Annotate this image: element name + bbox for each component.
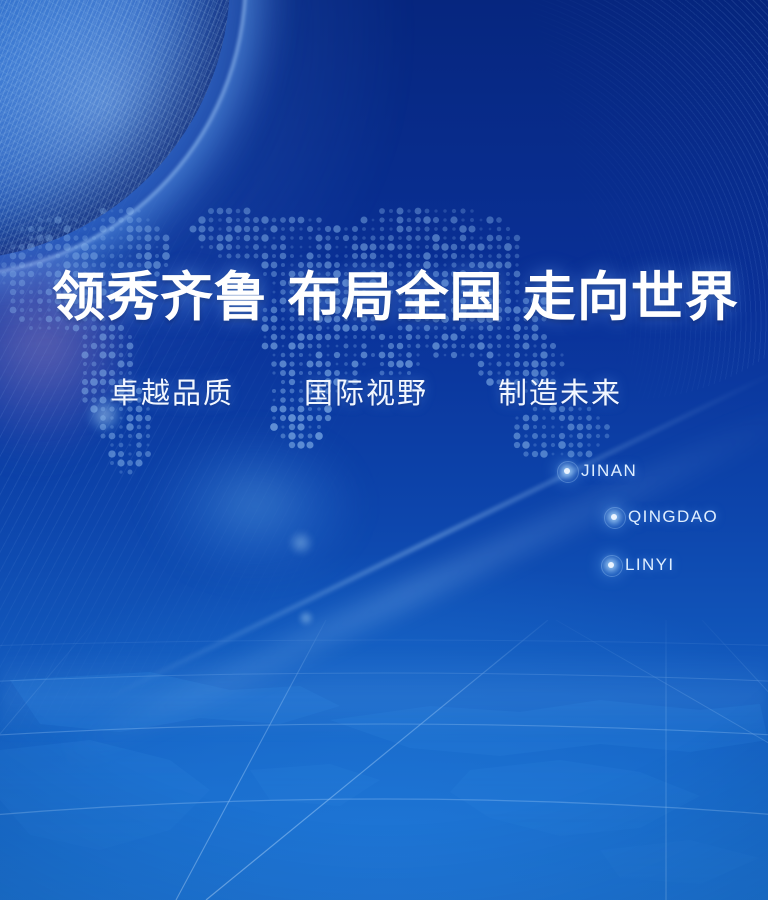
city-marker-dot-icon [564,468,570,474]
banner-subheadline: 卓越品质 国际视野 制造未来 [110,370,730,412]
banner-content: 领秀齐鲁 布局全国 走向世界 卓越品质 国际视野 制造未来 JINAN QING… [0,0,768,900]
city-marker-jinan[interactable]: JINAN [564,461,637,481]
subhead-item-2: 国际视野 [304,370,428,412]
city-label-jinan: JINAN [581,461,637,481]
city-label-qingdao: QINGDAO [628,507,718,527]
city-label-linyi: LINYI [625,555,675,575]
city-marker-linyi[interactable]: LINYI [608,555,675,575]
banner-headline: 领秀齐鲁 布局全国 走向世界 [52,268,732,327]
hero-banner: 领秀齐鲁 布局全国 走向世界 卓越品质 国际视野 制造未来 JINAN QING… [0,0,768,900]
subhead-item-3: 制造未来 [498,370,622,412]
city-marker-dot-icon [608,562,614,568]
city-marker-dot-icon [611,514,617,520]
subhead-item-1: 卓越品质 [110,370,234,412]
city-marker-qingdao[interactable]: QINGDAO [611,507,718,527]
